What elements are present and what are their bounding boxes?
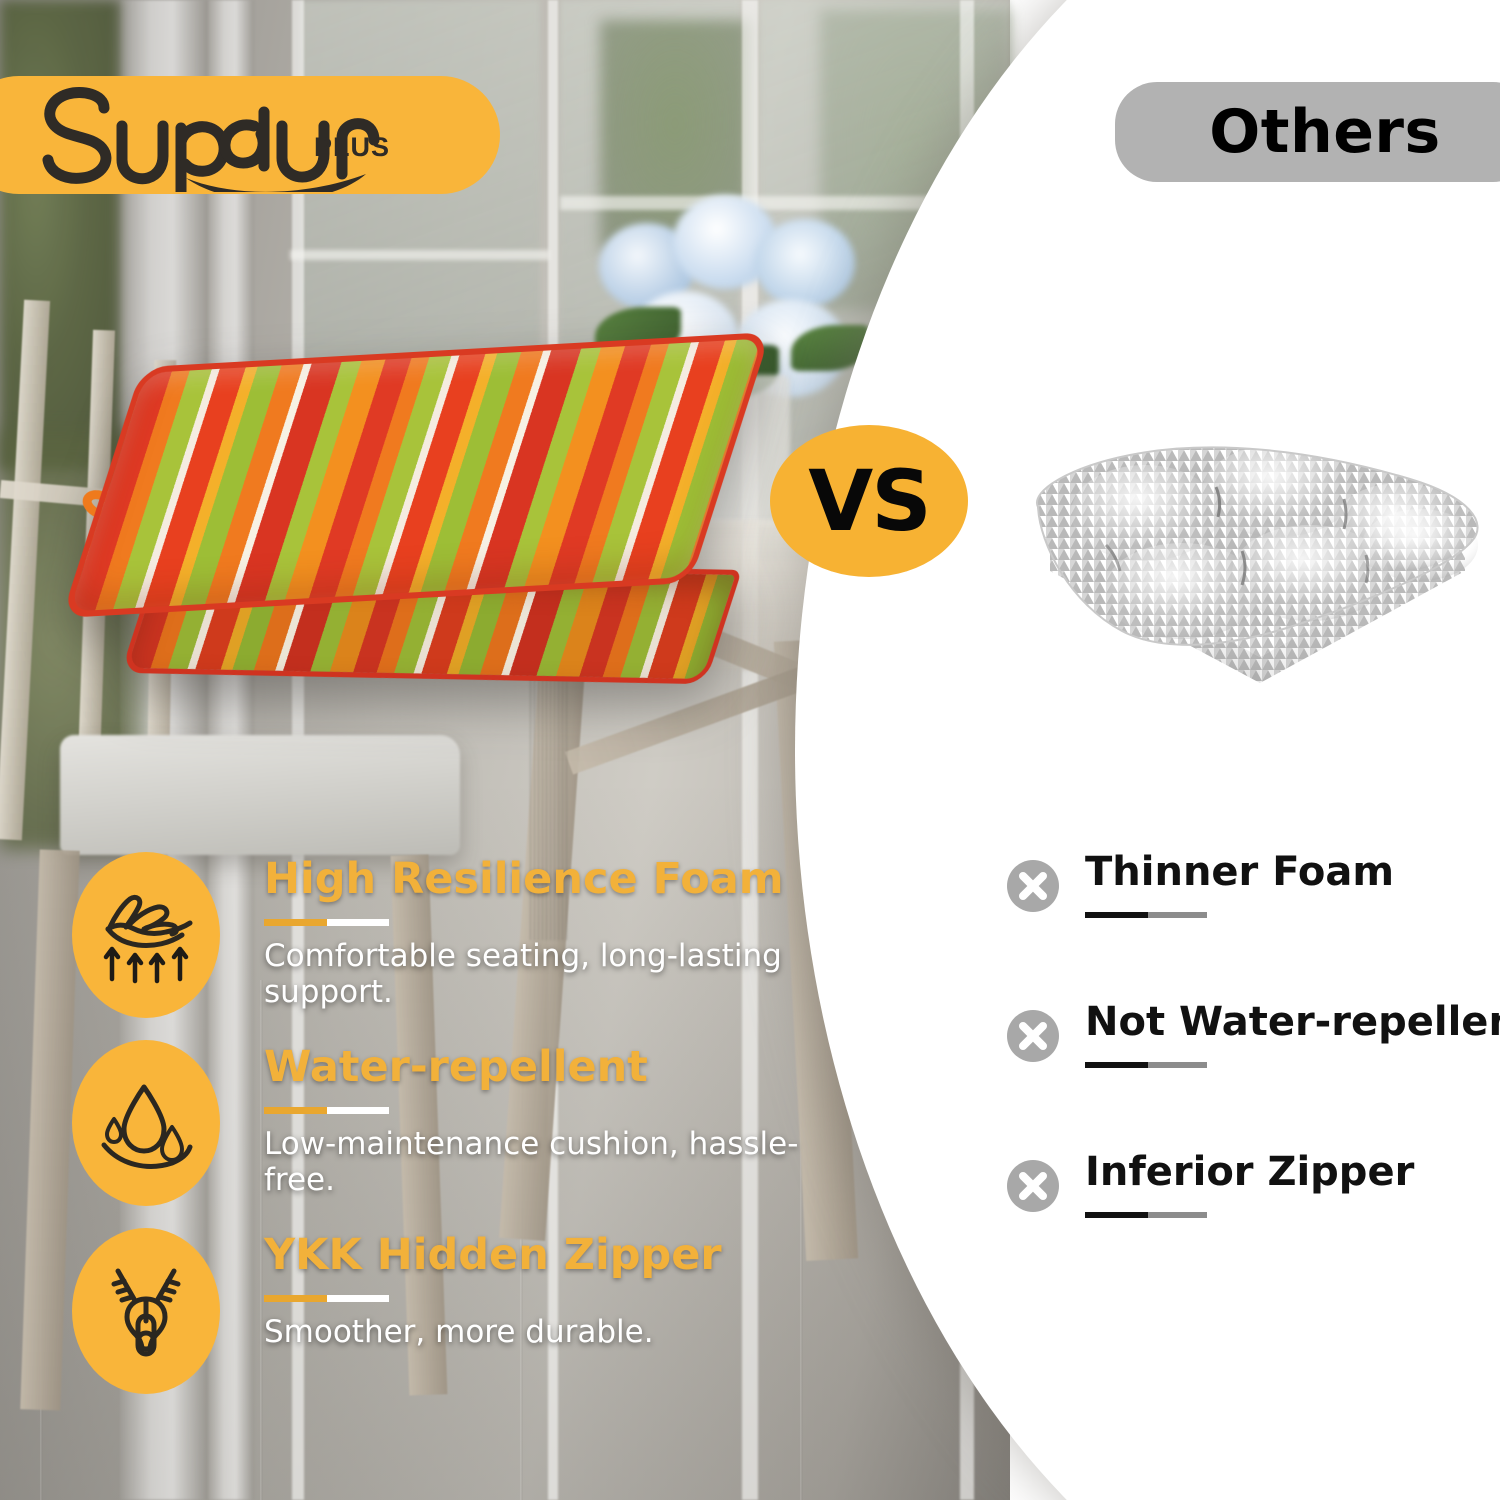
hand-support-icon [72, 852, 220, 1018]
feature-item-ykk-hidden-zipper: YKK Hidden Zipper Smoother, more durable… [72, 1222, 862, 1410]
feature-divider [264, 1295, 389, 1302]
background-gray-cushion [60, 735, 460, 855]
con-item-inferior-zipper: Inferior Zipper [1005, 1156, 1500, 1306]
feature-divider [264, 919, 389, 926]
cushion-top-panel [61, 332, 771, 618]
con-text-block: Not Water-repellent [1085, 1000, 1500, 1068]
con-item-thinner-foam: Thinner Foam [1005, 856, 1500, 1006]
x-circle-icon [1005, 1158, 1061, 1214]
competitor-cushion-image [1010, 395, 1500, 715]
feature-text-block: Water-repellent Low-maintenance cushion,… [264, 1044, 864, 1198]
feature-item-water-repellent: Water-repellent Low-maintenance cushion,… [72, 1034, 862, 1222]
comparison-infographic: PLUS Others VS [0, 0, 1500, 1500]
competitor-drawback-list: Thinner Foam Not Water-repellent [1005, 856, 1500, 1306]
x-circle-icon [1005, 1008, 1061, 1064]
zipper-icon [72, 1228, 220, 1394]
feature-subtitle: Smoother, more durable. [264, 1314, 864, 1350]
feature-subtitle: Comfortable seating, long-lasting suppor… [264, 938, 864, 1010]
con-text-block: Inferior Zipper [1085, 1150, 1414, 1218]
product-cushion-image [79, 334, 758, 720]
window-sill [290, 250, 550, 260]
others-label: Others [1209, 97, 1440, 167]
versus-label: VS [808, 452, 930, 550]
versus-badge: VS [770, 425, 968, 577]
con-item-not-water-repellent: Not Water-repellent [1005, 1006, 1500, 1156]
feature-subtitle: Low-maintenance cushion, hassle-free. [264, 1126, 864, 1198]
con-divider [1085, 1212, 1207, 1218]
water-drop-repel-icon [72, 1040, 220, 1206]
feature-item-high-resilience-foam: High Resilience Foam Comfortable seating… [72, 846, 862, 1034]
others-badge: Others [1115, 82, 1500, 182]
x-circle-icon [1005, 858, 1061, 914]
feature-title: YKK Hidden Zipper [264, 1232, 864, 1278]
con-title: Thinner Foam [1085, 850, 1394, 894]
feature-title: Water-repellent [264, 1044, 864, 1090]
feature-text-block: High Resilience Foam Comfortable seating… [264, 856, 864, 1010]
brand-logo-suffix: PLUS [314, 132, 390, 163]
con-divider [1085, 912, 1207, 918]
con-text-block: Thinner Foam [1085, 850, 1394, 918]
con-title: Not Water-repellent [1085, 1000, 1500, 1044]
feature-divider [264, 1107, 389, 1114]
feature-text-block: YKK Hidden Zipper Smoother, more durable… [264, 1232, 864, 1350]
chair-leg [20, 849, 80, 1410]
brand-logo-badge: PLUS [0, 76, 500, 194]
con-title: Inferior Zipper [1085, 1150, 1414, 1194]
feature-list: High Resilience Foam Comfortable seating… [72, 846, 862, 1410]
feature-title: High Resilience Foam [264, 856, 864, 902]
con-divider [1085, 1062, 1207, 1068]
